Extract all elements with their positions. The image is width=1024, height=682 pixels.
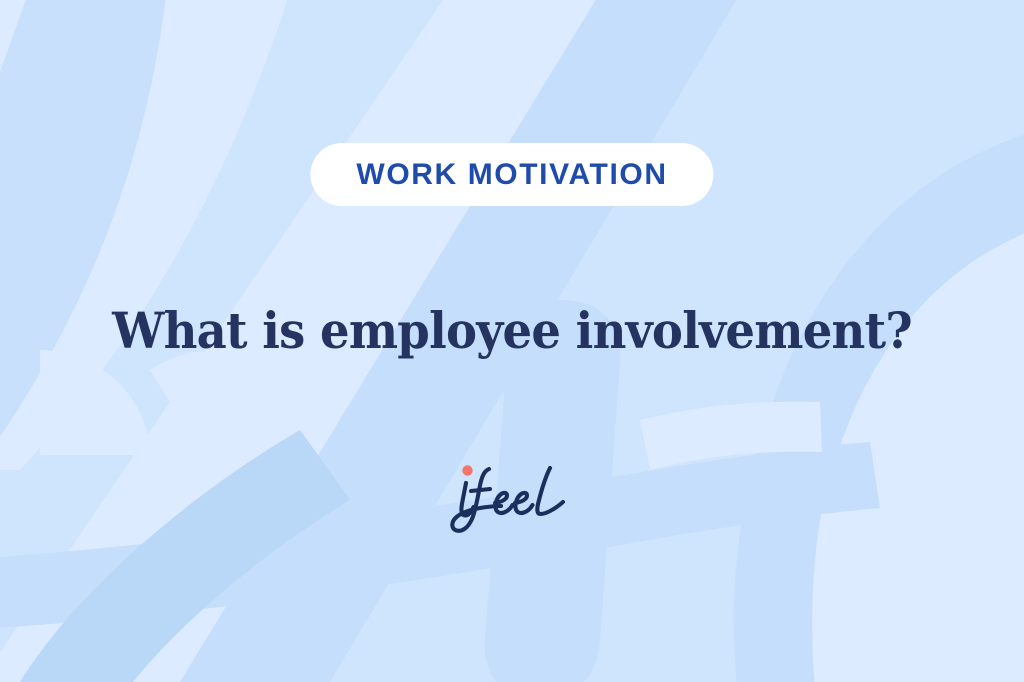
logo-letter-f bbox=[452, 469, 501, 531]
logo-wordmark-text: ifeel bbox=[442, 536, 443, 537]
headline-text: What is employee involvement? bbox=[112, 303, 912, 359]
promo-card: WORK MOTIVATION What is employee involve… bbox=[0, 0, 1024, 682]
logo-letter-e1 bbox=[495, 493, 513, 513]
ifeel-logo-mark bbox=[442, 452, 582, 536]
category-badge[interactable]: WORK MOTIVATION bbox=[310, 143, 713, 206]
logo-letter-l bbox=[537, 468, 563, 514]
logo-dot-icon bbox=[462, 465, 472, 475]
page-title: What is employee involvement? bbox=[0, 303, 1024, 359]
logo-f-crossbar bbox=[471, 489, 490, 491]
card-content: WORK MOTIVATION What is employee involve… bbox=[0, 0, 1024, 682]
logo-letter-e2 bbox=[515, 493, 533, 513]
category-badge-label: WORK MOTIVATION bbox=[356, 160, 667, 190]
ifeel-logo: ifeel bbox=[442, 452, 582, 536]
